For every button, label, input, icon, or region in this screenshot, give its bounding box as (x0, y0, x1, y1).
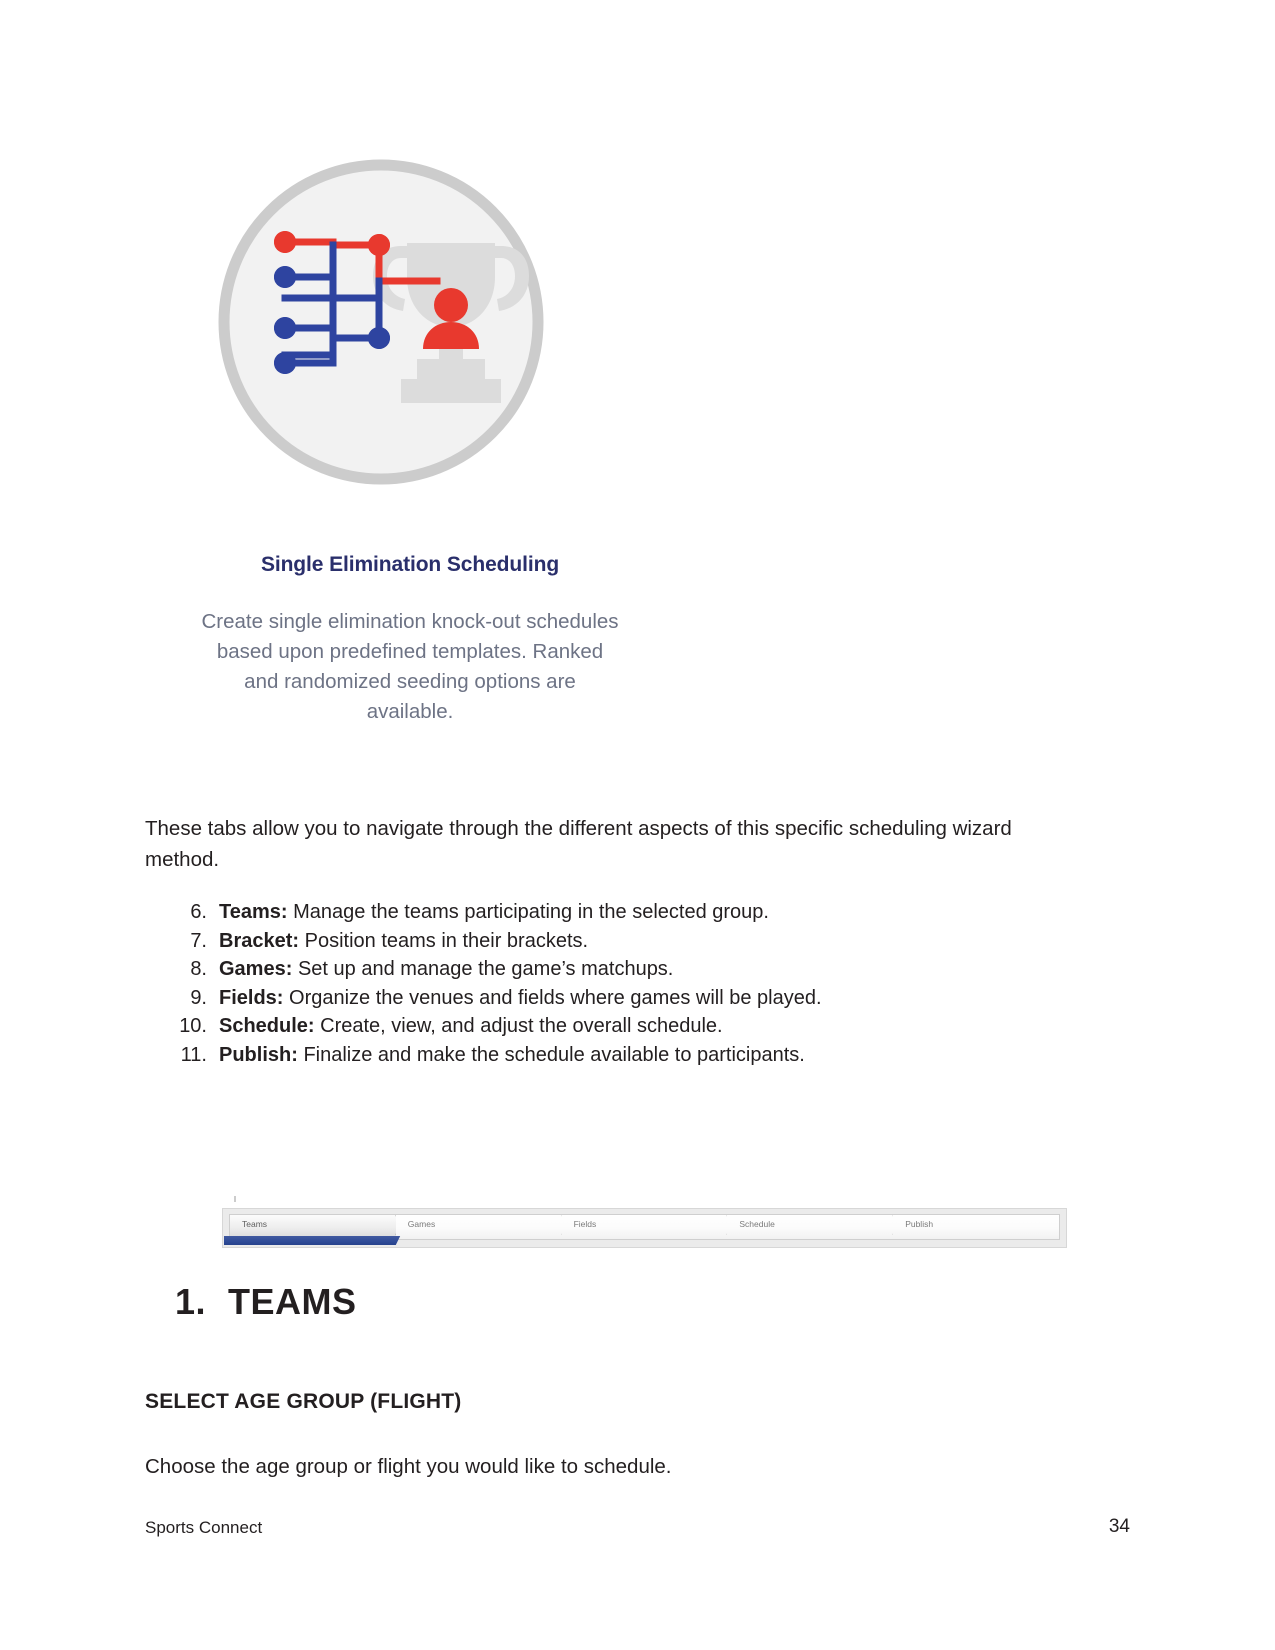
list-item-number: 7. (175, 927, 219, 956)
list-item-text: Games: Set up and manage the game’s matc… (219, 955, 1075, 984)
intro-paragraph: These tabs allow you to navigate through… (145, 813, 1065, 875)
list-item-number: 8. (175, 955, 219, 984)
wizard-tab-schedule[interactable]: Schedule (727, 1215, 893, 1239)
chevron-right-icon (552, 1215, 562, 1235)
wizard-tabstrip-frame: Teams Games Fields Schedule Publish (222, 1208, 1067, 1248)
wizard-tab-fields[interactable]: Fields (562, 1215, 728, 1239)
list-item-number: 6. (175, 898, 219, 927)
single-elimination-bracket-trophy-icon (211, 150, 551, 495)
wizard-tab-label: Teams (242, 1217, 267, 1232)
page-title: 1.TEAMS (175, 1281, 357, 1323)
list-item-description: Create, view, and adjust the overall sch… (320, 1015, 722, 1037)
footer-brand: Sports Connect (145, 1518, 262, 1538)
chevron-right-icon (883, 1215, 893, 1235)
section-subheading: SELECT AGE GROUP (FLIGHT) (145, 1390, 462, 1414)
list-item: 8. Games: Set up and manage the game’s m… (175, 955, 1075, 984)
section-number: 1. (175, 1281, 206, 1323)
list-item-number: 11. (175, 1041, 219, 1070)
list-item-text: Teams: Manage the teams participating in… (219, 898, 1075, 927)
list-item-term: Bracket: (219, 930, 299, 952)
wizard-tab-label: Schedule (739, 1217, 774, 1232)
list-item: 10. Schedule: Create, view, and adjust t… (175, 1012, 1075, 1041)
list-item-term: Publish: (219, 1044, 298, 1066)
list-item: 9. Fields: Organize the venues and field… (175, 984, 1075, 1013)
wizard-tab-games[interactable]: Games (396, 1215, 562, 1239)
list-item: 7. Bracket: Position teams in their brac… (175, 927, 1075, 956)
list-item-text: Bracket: Position teams in their bracket… (219, 927, 1075, 956)
list-item-term: Schedule: (219, 1015, 315, 1037)
feature-card: Single Elimination Scheduling Create sin… (145, 150, 615, 727)
chevron-right-icon (386, 1215, 396, 1235)
list-item-text: Publish: Finalize and make the schedule … (219, 1041, 1075, 1070)
feature-description: Create single elimination knock-out sche… (200, 607, 620, 727)
active-tab-indicator (224, 1236, 393, 1245)
list-item-number: 10. (175, 1012, 219, 1041)
wizard-tab-label: Publish (905, 1217, 933, 1232)
section-paragraph: Choose the age group or flight you would… (145, 1452, 672, 1482)
tab-description-list: 6. Teams: Manage the teams participating… (175, 898, 1075, 1069)
wizard-tab-label: Fields (574, 1217, 597, 1232)
list-item-description: Manage the teams participating in the se… (293, 901, 769, 923)
wizard-tab-publish[interactable]: Publish (893, 1215, 1059, 1239)
list-item-description: Position teams in their brackets. (305, 930, 588, 952)
document-page: Single Elimination Scheduling Create sin… (0, 0, 1275, 1650)
list-item-term: Games: (219, 958, 292, 980)
list-item-text: Schedule: Create, view, and adjust the o… (219, 1012, 1075, 1041)
wizard-tab-label: Games (408, 1217, 435, 1232)
list-item-description: Finalize and make the schedule available… (303, 1044, 804, 1066)
chevron-right-icon (717, 1215, 727, 1235)
list-item-description: Set up and manage the game’s matchups. (298, 958, 673, 980)
wizard-tabstrip-screenshot: Teams Games Fields Schedule Publish (222, 1160, 1067, 1232)
feature-title: Single Elimination Scheduling (175, 553, 645, 577)
list-item-number: 9. (175, 984, 219, 1013)
list-item: 6. Teams: Manage the teams participating… (175, 898, 1075, 927)
list-item: 11. Publish: Finalize and make the sched… (175, 1041, 1075, 1070)
list-item-term: Fields: (219, 987, 283, 1009)
list-item-description: Organize the venues and fields where gam… (289, 987, 822, 1009)
list-item-text: Fields: Organize the venues and fields w… (219, 984, 1075, 1013)
tick-mark (234, 1196, 236, 1202)
footer-page-number: 34 (1109, 1516, 1130, 1538)
section-heading: TEAMS (228, 1281, 357, 1322)
list-item-term: Teams: (219, 901, 288, 923)
